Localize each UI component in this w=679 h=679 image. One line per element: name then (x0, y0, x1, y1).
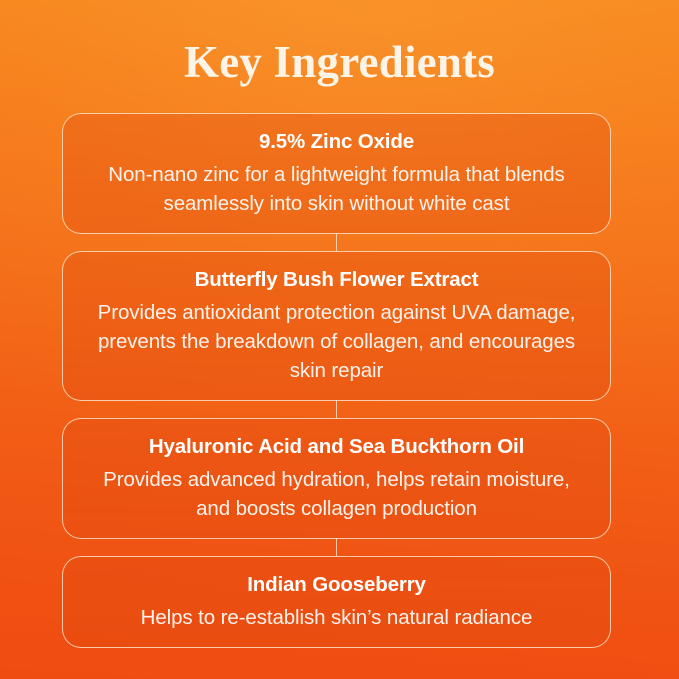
ingredient-card-title: 9.5% Zinc Oxide (85, 126, 588, 157)
ingredient-card-zinc-oxide: 9.5% Zinc Oxide Non-nano zinc for a ligh… (62, 113, 611, 234)
ingredient-card-title: Indian Gooseberry (85, 569, 588, 600)
key-ingredients-panel: Key Ingredients 9.5% Zinc Oxide Non-nano… (0, 0, 679, 679)
ingredient-card-list: 9.5% Zinc Oxide Non-nano zinc for a ligh… (62, 113, 611, 648)
ingredient-card-body: Provides advanced hydration, helps retai… (85, 465, 588, 523)
card-connector-line (336, 538, 337, 556)
ingredient-card-title: Hyaluronic Acid and Sea Buckthorn Oil (85, 431, 588, 462)
ingredient-card-butterfly-bush-flower-extract: Butterfly Bush Flower Extract Provides a… (62, 251, 611, 401)
page-title: Key Ingredients (0, 34, 679, 90)
ingredient-card-body: Helps to re-establish skin’s natural rad… (85, 603, 588, 632)
ingredient-card-indian-gooseberry: Indian Gooseberry Helps to re-establish … (62, 556, 611, 648)
ingredient-card-body: Provides antioxidant protection against … (85, 298, 588, 385)
ingredient-card-body: Non-nano zinc for a lightweight formula … (85, 160, 588, 218)
card-connector-line (336, 400, 337, 418)
ingredient-card-title: Butterfly Bush Flower Extract (85, 264, 588, 295)
card-connector-line (336, 233, 337, 251)
ingredient-card-hyaluronic-acid-sea-buckthorn-oil: Hyaluronic Acid and Sea Buckthorn Oil Pr… (62, 418, 611, 539)
